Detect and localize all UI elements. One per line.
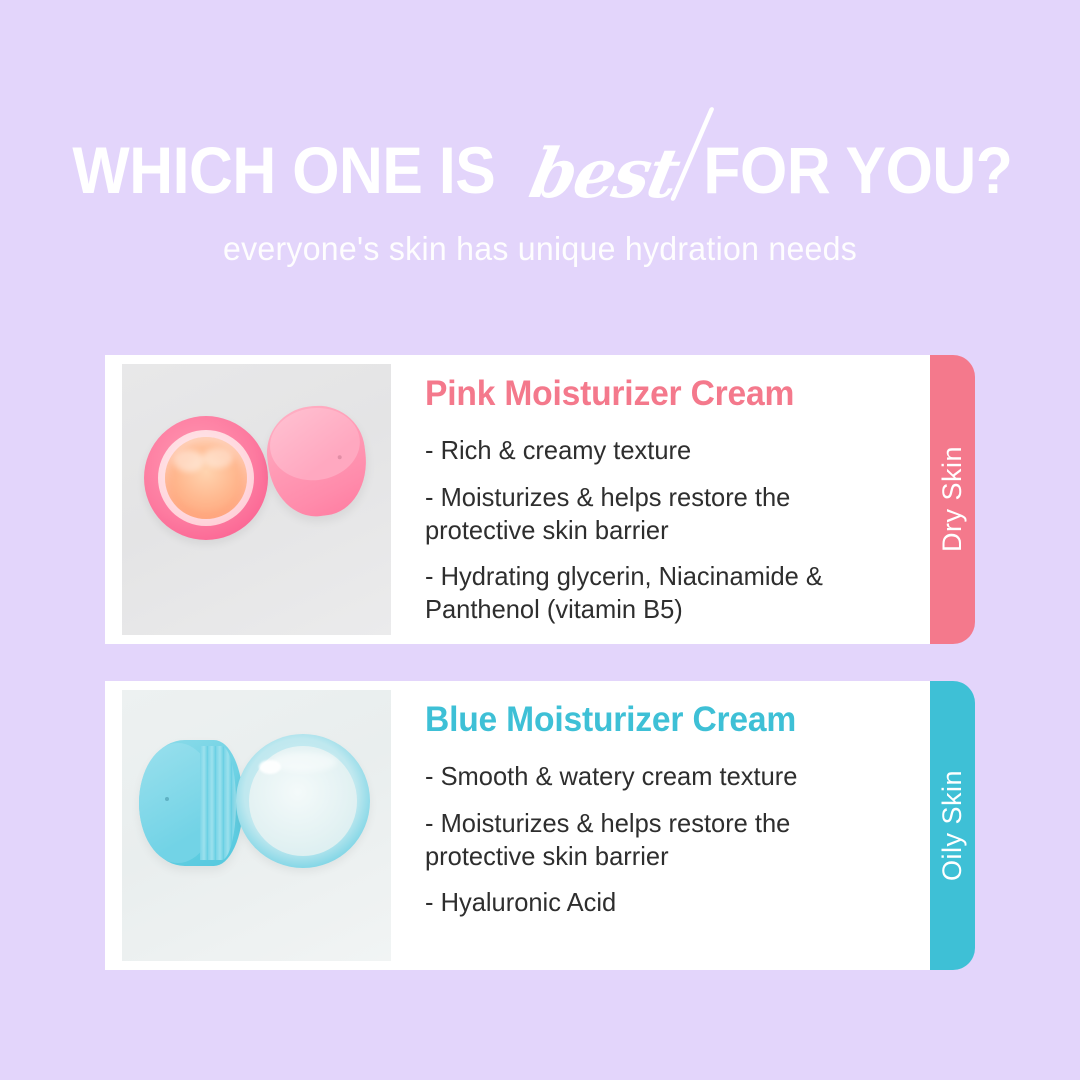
- skin-type-tab-dry[interactable]: Dry Skin: [930, 355, 975, 644]
- blue-jar-lid-ridges: [200, 746, 236, 860]
- card-title-blue: Blue Moisturizer Cream: [425, 700, 910, 740]
- blue-moisturizer-jar-photo: [122, 690, 391, 961]
- pink-jar-base-icon: [144, 416, 268, 540]
- bullet-item: - Smooth & watery cream texture: [425, 760, 905, 793]
- card-body: Blue Moisturizer Cream - Smooth & watery…: [105, 681, 930, 970]
- pink-jar-lid-icon: [262, 400, 373, 521]
- pink-jar-inner-rim: [158, 430, 254, 526]
- headline-part-two: FOR YOU?: [704, 137, 1013, 203]
- card-title-pink: Pink Moisturizer Cream: [425, 374, 910, 414]
- skin-type-tab-oily[interactable]: Oily Skin: [930, 681, 975, 970]
- card-text-block: Blue Moisturizer Cream - Smooth & watery…: [391, 690, 930, 933]
- pink-moisturizer-jar-photo: [122, 364, 391, 635]
- bullet-item: - Moisturizes & helps restore the protec…: [425, 481, 905, 547]
- blue-gel-surface: [249, 746, 357, 856]
- skin-type-tab-label: Dry Skin: [937, 446, 968, 552]
- pink-cream-surface: [165, 437, 247, 519]
- headline-script-word: best: [524, 140, 683, 208]
- card-body: Pink Moisturizer Cream - Rich & creamy t…: [105, 355, 930, 644]
- headline-part-one: WHICH ONE IS: [72, 137, 495, 203]
- skin-type-tab-label: Oily Skin: [937, 770, 968, 881]
- bullet-item: - Rich & creamy texture: [425, 434, 905, 467]
- product-card-pink[interactable]: Pink Moisturizer Cream - Rich & creamy t…: [105, 355, 975, 644]
- card-text-block: Pink Moisturizer Cream - Rich & creamy t…: [391, 364, 930, 640]
- bullet-item: - Hyaluronic Acid: [425, 886, 905, 919]
- page-title: WHICH ONE IS best FOR YOU?: [0, 136, 1080, 204]
- page-header: WHICH ONE IS best FOR YOU? everyone's sk…: [0, 0, 1080, 268]
- bullet-item: - Hydrating glycerin, Niacinamide & Pant…: [425, 560, 905, 626]
- product-card-blue[interactable]: Blue Moisturizer Cream - Smooth & watery…: [105, 681, 975, 970]
- bullet-item: - Moisturizes & helps restore the protec…: [425, 807, 905, 873]
- blue-jar-base-icon: [236, 734, 370, 868]
- page-subtitle: everyone's skin has unique hydration nee…: [16, 230, 1064, 268]
